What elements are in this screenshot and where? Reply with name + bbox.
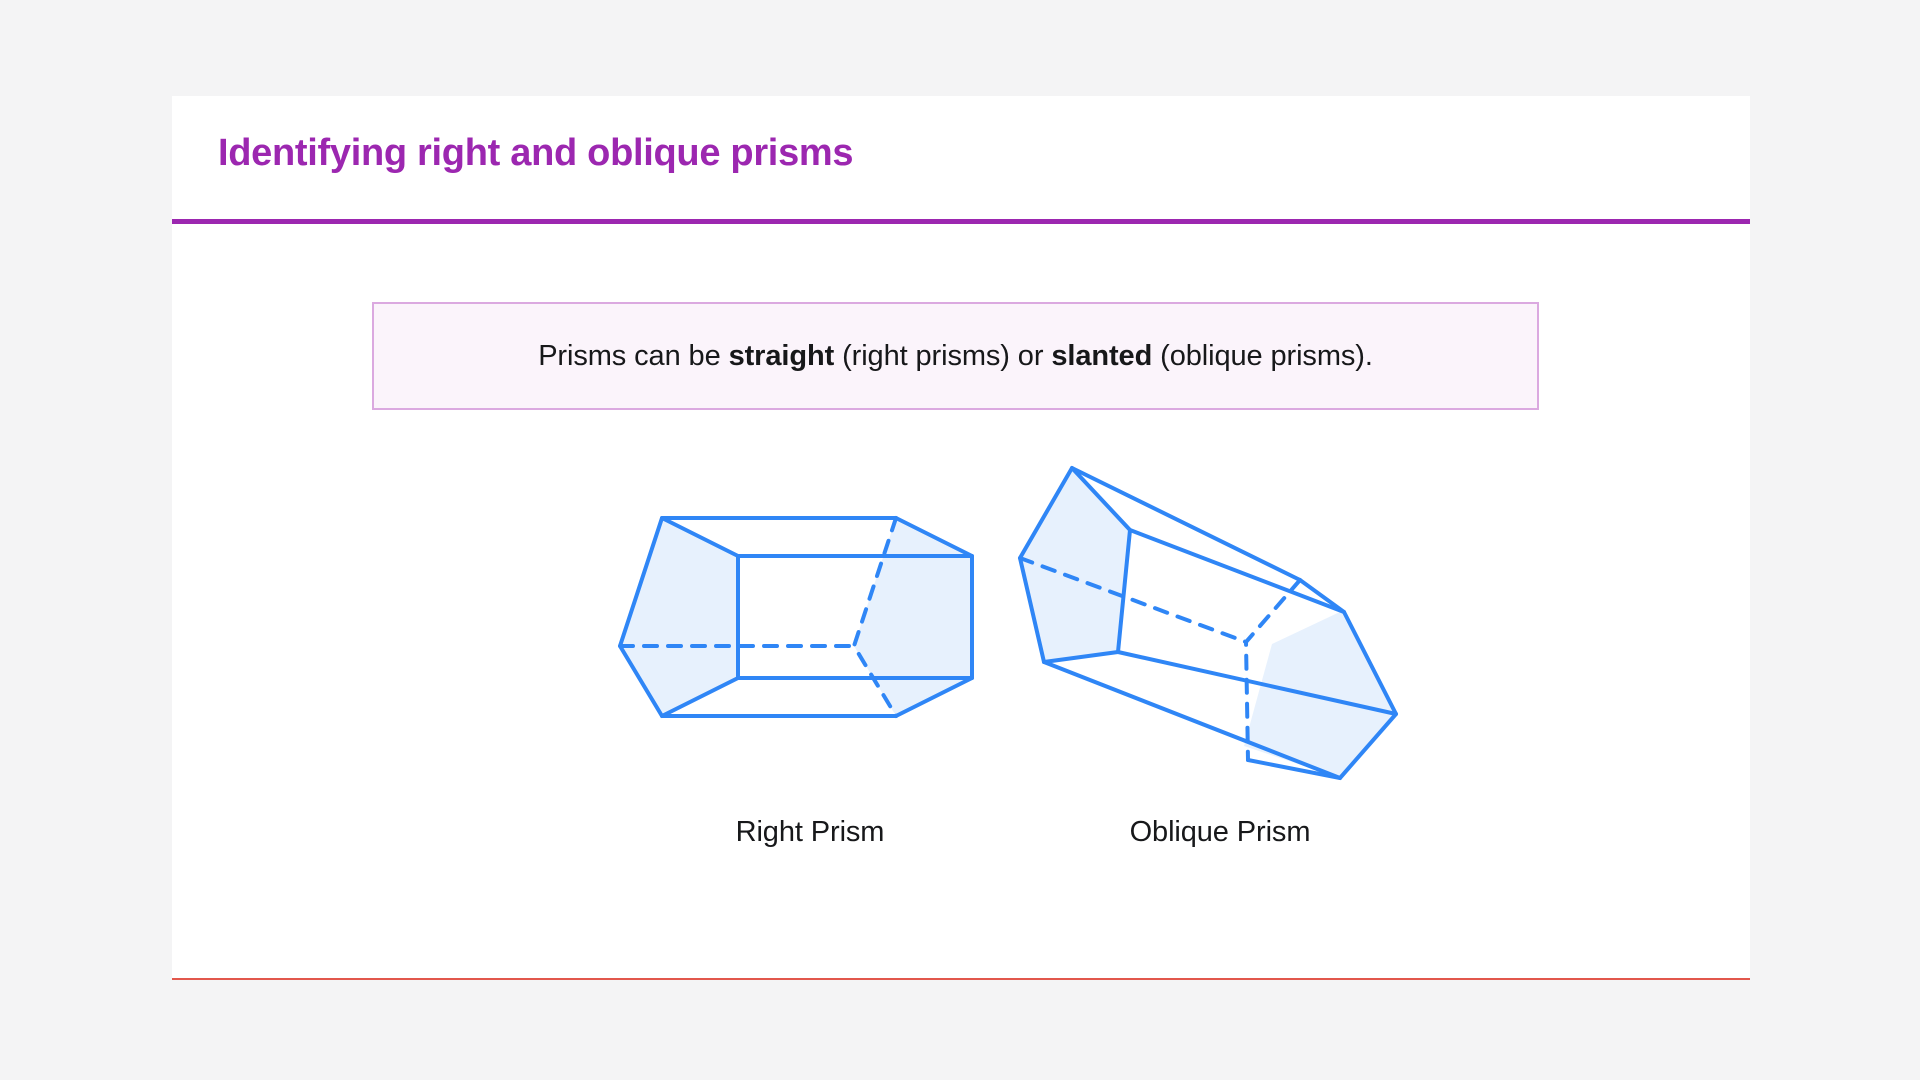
oblique-prism-far-face bbox=[1244, 610, 1396, 778]
slide-card: Identifying right and oblique prisms Pri… bbox=[172, 96, 1750, 980]
oblique-prism-label: Oblique Prism bbox=[1010, 816, 1430, 849]
oblique-prism-drawing bbox=[1010, 446, 1430, 806]
callout-segment-slanted: slanted bbox=[1051, 340, 1152, 372]
callout-box: Prisms can be straight (right prisms) or… bbox=[372, 302, 1539, 410]
callout-segment-straight: straight bbox=[729, 340, 835, 372]
figures-row: Right Prism Oblique Pri bbox=[172, 446, 1750, 886]
title-divider bbox=[172, 219, 1750, 224]
callout-segment-1: Prisms can be bbox=[538, 340, 728, 372]
right-prism-figure: Right Prism bbox=[600, 446, 1020, 886]
oblique-prism-edge-upper bbox=[1130, 530, 1344, 612]
right-prism-drawing bbox=[600, 446, 1020, 806]
callout-segment-3: (oblique prisms). bbox=[1152, 340, 1373, 372]
page-title: Identifying right and oblique prisms bbox=[218, 132, 853, 175]
oblique-prism-figure: Oblique Prism bbox=[1010, 446, 1430, 886]
callout-text: Prisms can be straight (right prisms) or… bbox=[538, 340, 1373, 373]
callout-segment-2: (right prisms) or bbox=[834, 340, 1051, 372]
right-prism-label: Right Prism bbox=[600, 816, 1020, 849]
